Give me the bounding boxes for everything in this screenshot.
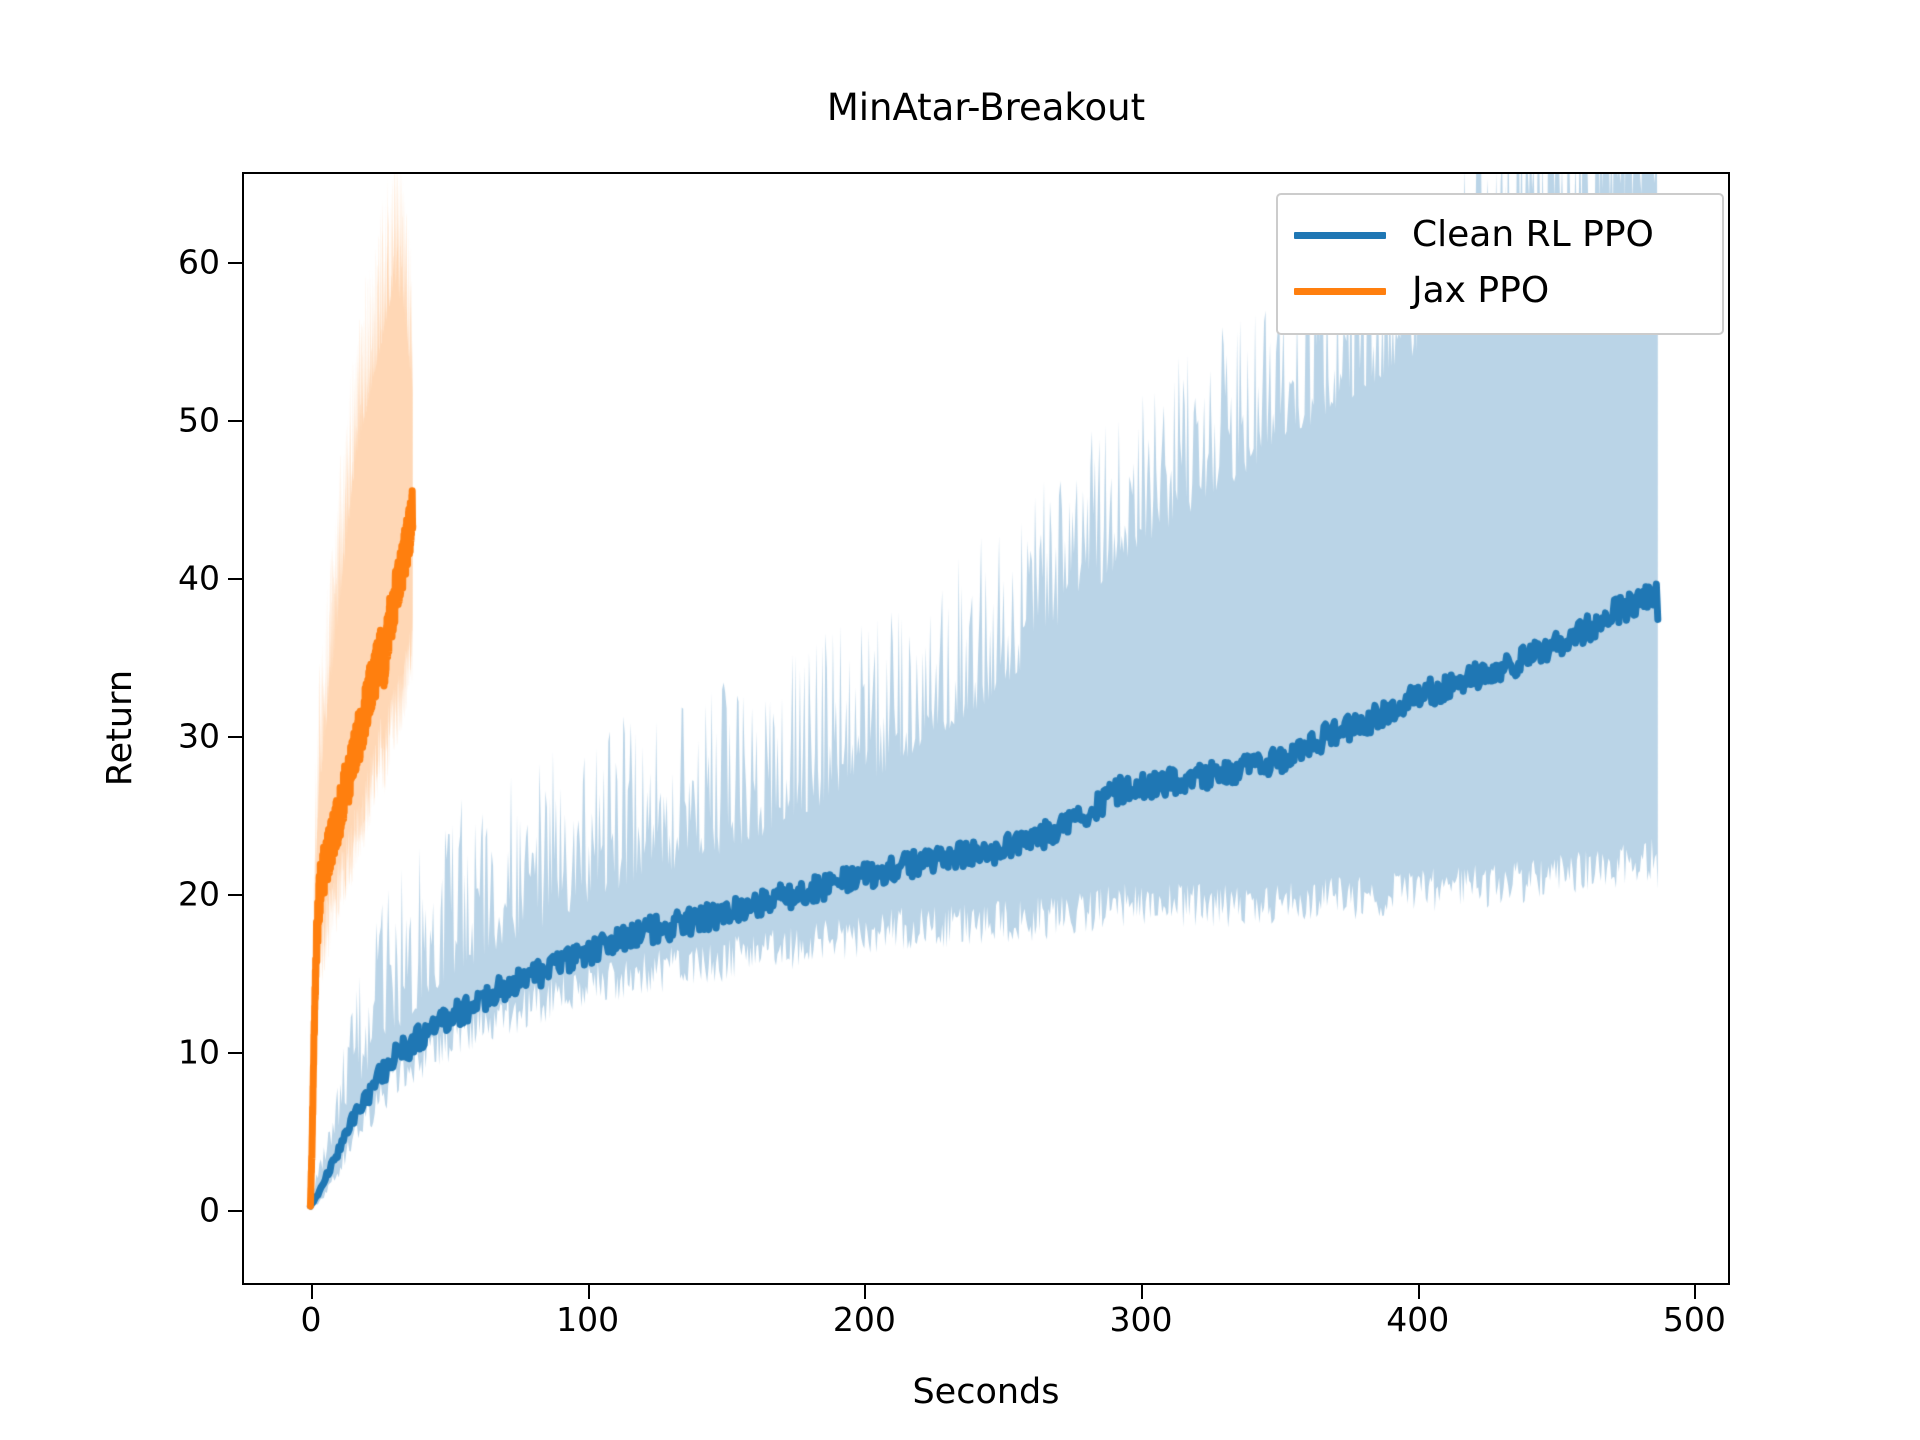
y-tick-mark [228,894,242,896]
plot-area [242,172,1730,1285]
legend-label-clean-rl-ppo: Clean RL PPO [1412,217,1654,253]
y-tick-label: 60 [178,242,220,281]
y-tick-mark [228,420,242,422]
page-title: MinAtar-Breakout [242,86,1730,129]
y-tick-label: 30 [178,716,220,755]
x-tick-mark [1141,1285,1143,1299]
y-tick-label: 0 [199,1190,220,1229]
x-tick-label: 200 [833,1300,896,1339]
x-tick-mark [1418,1285,1420,1299]
y-tick-mark [228,736,242,738]
x-tick-mark [1694,1285,1696,1299]
figure-canvas: MinAtar-Breakout 0102030405060 010020030… [0,0,1920,1440]
legend-item-clean-rl-ppo[interactable]: Clean RL PPO [1294,207,1706,263]
x-tick-label: 0 [301,1300,322,1339]
y-tick-mark [228,578,242,580]
chart-plot-canvas [244,174,1727,1282]
legend-label-jax-ppo: Jax PPO [1412,273,1549,309]
y-tick-label: 50 [178,400,220,439]
x-tick-label: 300 [1110,1300,1173,1339]
x-tick-mark [311,1285,313,1299]
y-tick-mark [228,1210,242,1212]
x-tick-label: 500 [1663,1300,1726,1339]
legend-item-jax-ppo[interactable]: Jax PPO [1294,263,1706,319]
x-axis-label: Seconds [242,1372,1730,1412]
y-tick-label: 40 [178,558,220,597]
y-tick-label: 20 [178,874,220,913]
legend-swatch-clean-rl-ppo [1294,232,1386,239]
chart-legend: Clean RL PPO Jax PPO [1276,193,1724,335]
x-tick-mark [864,1285,866,1299]
y-tick-mark [228,1052,242,1054]
x-tick-mark [588,1285,590,1299]
y-tick-label: 10 [178,1032,220,1071]
legend-swatch-jax-ppo [1294,288,1386,295]
y-axis-label: Return [100,608,140,848]
x-tick-label: 100 [556,1300,619,1339]
y-tick-mark [228,262,242,264]
y-axis-tick-labels: 0102030405060 [130,0,220,1440]
x-tick-label: 400 [1386,1300,1449,1339]
